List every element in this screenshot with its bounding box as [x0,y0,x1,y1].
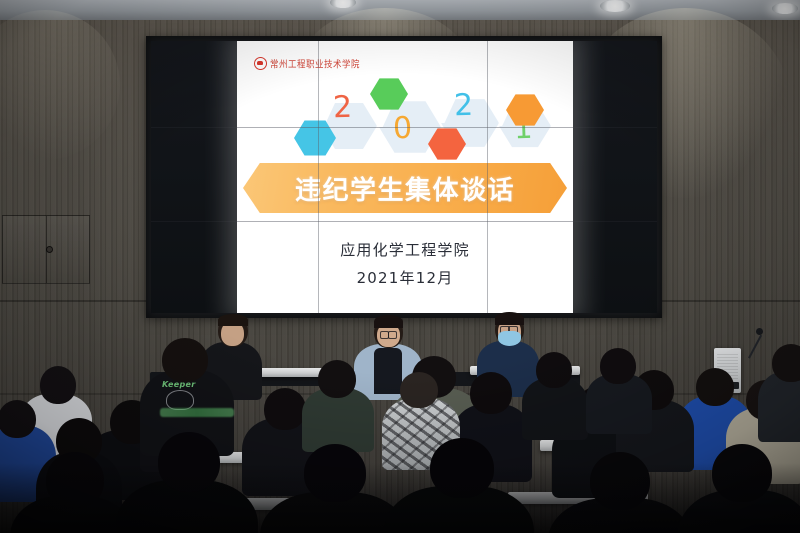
meeting-room-photo: 常州工程职业技术学院 2 0 2 1 [0,0,800,533]
panel-seam-v-2 [487,41,488,313]
downlight-2 [600,0,630,12]
date-line: 2021年12月 [237,267,573,288]
facilitator-center-glasses-icon [380,331,397,337]
audience-a3-head [0,400,36,438]
facilitator-right-face-mask [498,331,521,346]
facilitator-right-hair [495,312,524,325]
audience-right-edge-head [772,344,800,382]
video-wall-frame: 常州工程职业技术学院 2 0 2 1 [146,36,662,318]
department-line: 应用化学工程学院 [237,239,573,260]
video-wall-screen[interactable]: 常州工程职业技术学院 2 0 2 1 [151,41,657,313]
downlight-3 [772,3,798,14]
audience-c3-head [536,352,572,388]
keeper-jacket-print: Keeper [162,380,228,389]
letterbox-right [573,41,657,313]
microphone-stem [748,335,762,359]
facilitator-center-inner-top [374,348,402,394]
facilitator-center-hair [374,315,403,328]
keeper-jacket-lower-print [160,408,234,417]
panel-seam-h-full-1 [151,127,657,128]
year-digit-2a: 2 [332,93,352,124]
audience-c4-head [600,348,636,384]
slide-title-text: 违纪学生集体谈话 [295,170,515,207]
year-digit-0: 0 [392,114,412,145]
year-digit-2b: 2 [453,91,473,122]
cabinet-knob-icon[interactable] [46,246,53,253]
audience-b5-head [470,372,512,414]
audience-a2-head [40,366,76,404]
blue-shirt-head [696,368,734,406]
ceiling-microphone [744,328,774,358]
year-2021-graphic: 2 0 2 1 [261,69,561,173]
panel-seam-h-full-2 [151,221,657,222]
presentation-slide[interactable]: 常州工程职业技术学院 2 0 2 1 [237,41,573,313]
patterned-hoodie-head [400,372,438,408]
keeper-jacket-graphic [166,390,194,410]
panel-seam-v-1 [318,41,319,313]
audience-right-edge-body [758,372,800,442]
keeper-jacket-head [162,338,208,382]
slide-title-banner: 违纪学生集体谈话 [243,163,567,213]
foreground-shadow [0,463,800,533]
audience-b3-head [318,360,356,398]
letterbox-left [151,41,237,313]
audience-b2-head [264,388,306,430]
facilitator-left-hair [218,314,248,326]
microphone-head-icon [756,328,763,335]
